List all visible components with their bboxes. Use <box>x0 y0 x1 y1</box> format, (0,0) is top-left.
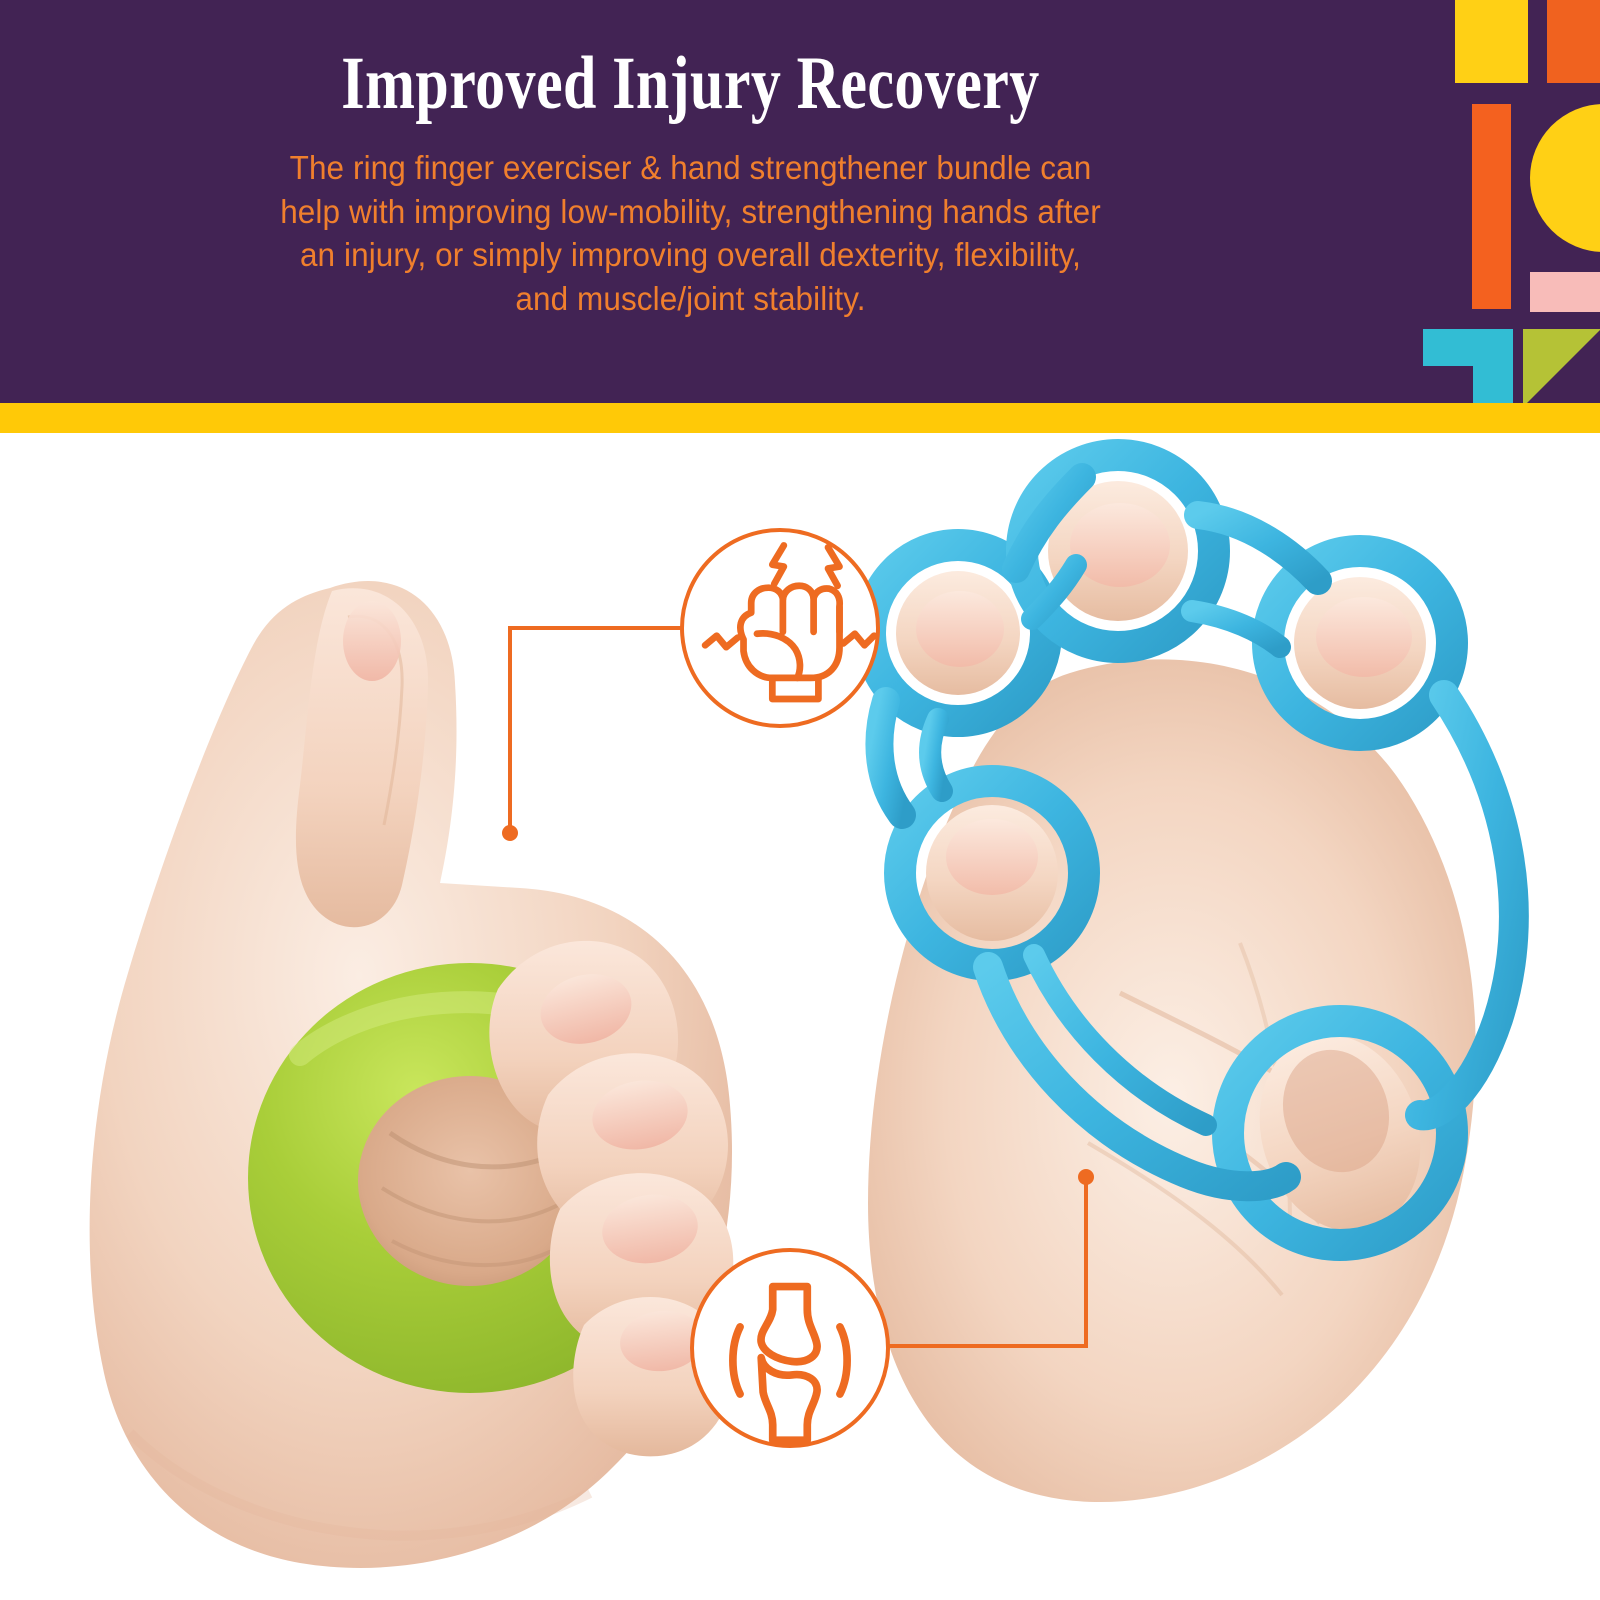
joint-callout-endpoint-dot <box>1078 1169 1094 1185</box>
accent-stripe <box>0 403 1600 433</box>
right-hand-with-stretcher-photo <box>820 433 1580 1600</box>
page-title: Improved Injury Recovery <box>341 46 1039 121</box>
header-banner: Improved Injury Recovery The ring finger… <box>0 0 1600 403</box>
grip-callout-endpoint-dot <box>502 825 518 841</box>
bone-joint-icon <box>694 1252 886 1444</box>
orange-rectangle-top-right-shape <box>1547 0 1600 83</box>
grip-callout-connector-vertical <box>508 626 512 833</box>
orange-vertical-bar-shape <box>1472 104 1511 309</box>
description-line-3: an injury, or simply improving overall d… <box>280 234 1101 278</box>
description-line-2: help with improving low-mobility, streng… <box>280 191 1101 235</box>
pink-rectangle-shape <box>1530 272 1600 312</box>
joint-callout-connector-horizontal <box>886 1344 1088 1348</box>
joint-stability-callout-circle <box>690 1248 890 1448</box>
teal-lshape-leg <box>1473 329 1513 403</box>
header-text-block: Improved Injury Recovery The ring finger… <box>0 0 1380 403</box>
olive-triangle-shape <box>1523 329 1600 403</box>
description-line-4: and muscle/joint stability. <box>280 278 1101 322</box>
yellow-rectangle-top-shape <box>1455 0 1528 83</box>
yellow-circle-shape <box>1530 104 1600 252</box>
grip-callout-connector-horizontal <box>508 626 684 630</box>
clenched-fist-icon <box>684 532 876 724</box>
geometric-decoration <box>1400 0 1600 403</box>
joint-callout-connector-vertical <box>1084 1177 1088 1348</box>
infographic-page: Improved Injury Recovery The ring finger… <box>0 0 1600 1600</box>
grip-strength-callout-circle <box>680 528 880 728</box>
product-photo-area <box>0 433 1600 1600</box>
description-line-1: The ring finger exerciser & hand strengt… <box>280 147 1101 191</box>
header-description: The ring finger exerciser & hand strengt… <box>280 147 1101 321</box>
